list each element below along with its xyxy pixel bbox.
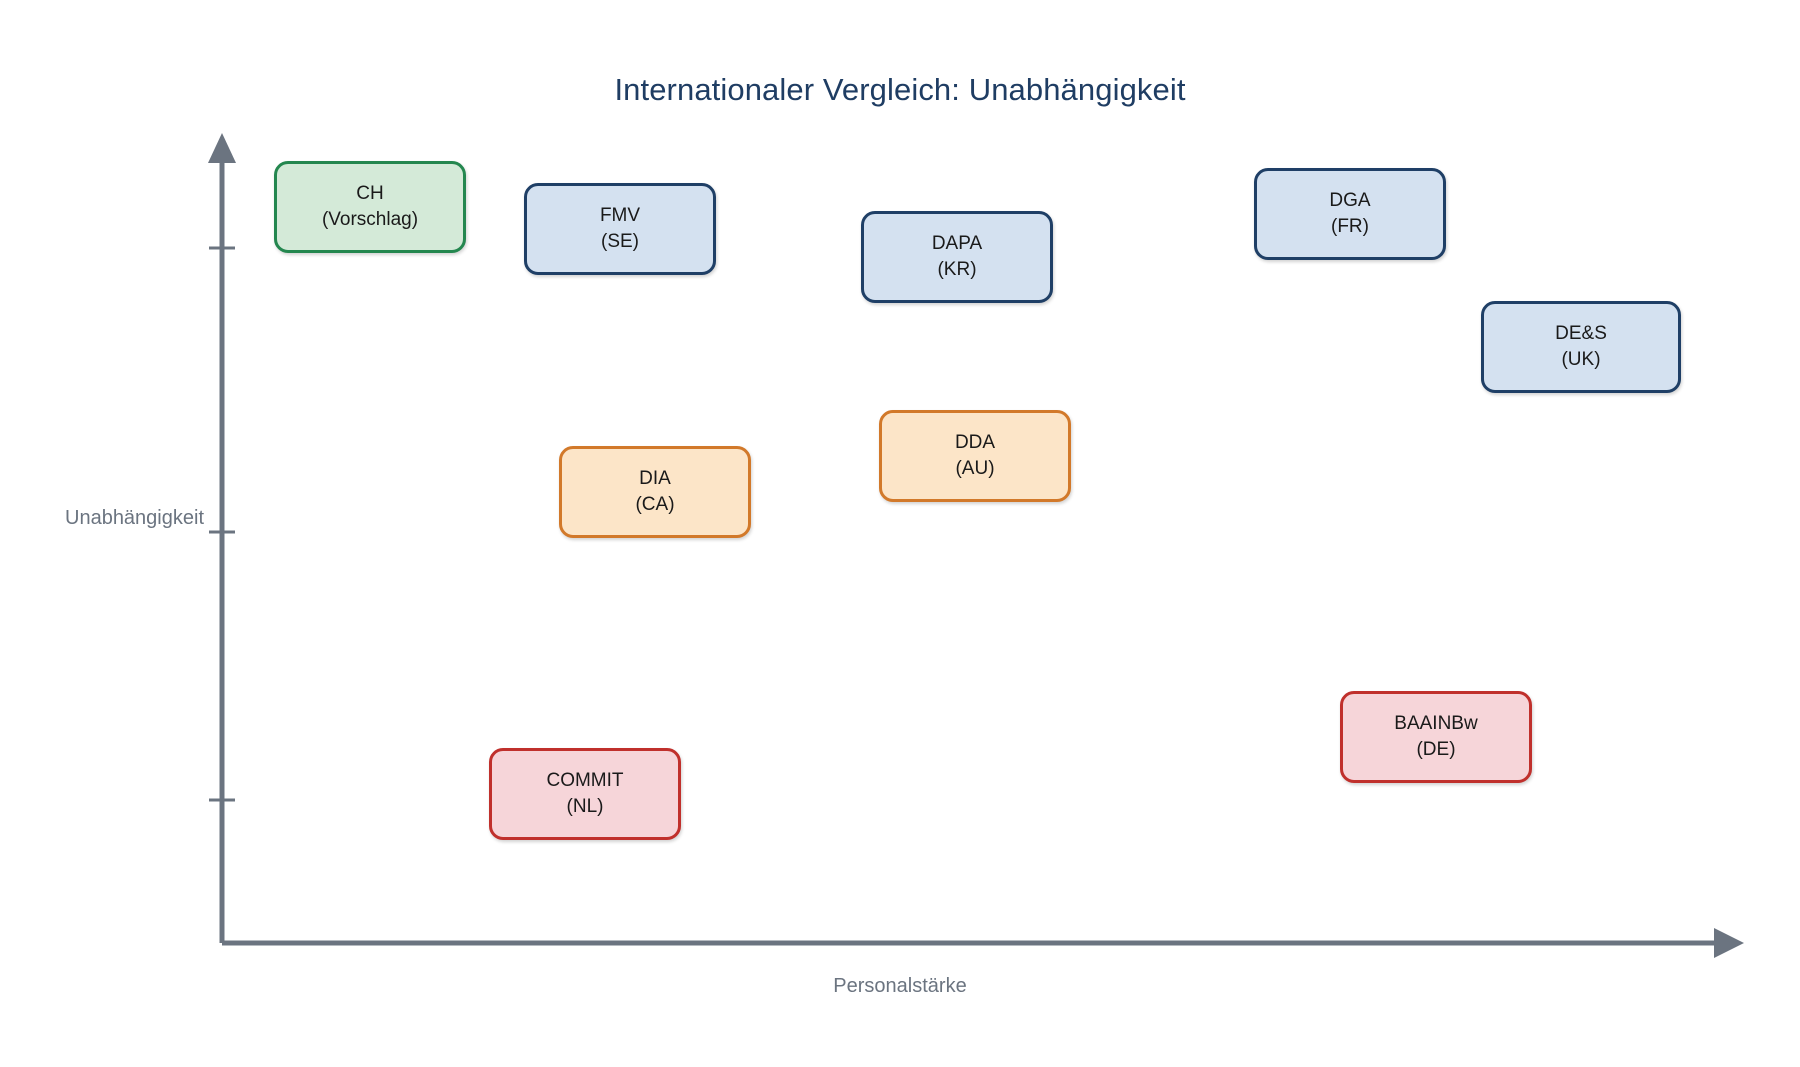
node-commit[interactable]: COMMIT(NL) — [489, 748, 681, 840]
node-label-secondary: (Vorschlag) — [322, 207, 418, 233]
node-dia[interactable]: DIA(CA) — [559, 446, 751, 538]
node-label-primary: FMV — [600, 203, 640, 229]
node-label-secondary: (NL) — [567, 794, 604, 820]
node-baainbw[interactable]: BAAINBw(DE) — [1340, 691, 1532, 783]
x-axis-arrow-icon — [1714, 928, 1744, 958]
node-label-secondary: (DE) — [1416, 737, 1455, 763]
node-label-secondary: (KR) — [937, 257, 976, 283]
chart-title: Internationaler Vergleich: Unabhängigkei… — [0, 72, 1800, 108]
node-label-secondary: (CA) — [635, 492, 674, 518]
node-des[interactable]: DE&S(UK) — [1481, 301, 1681, 393]
axes-group — [0, 0, 1800, 1067]
node-label-primary: DGA — [1329, 188, 1370, 214]
node-dga[interactable]: DGA(FR) — [1254, 168, 1446, 260]
node-label-secondary: (AU) — [955, 456, 994, 482]
diagram-canvas: Internationaler Vergleich: Unabhängigkei… — [0, 0, 1800, 1067]
node-label-primary: COMMIT — [546, 768, 623, 794]
node-label-primary: DIA — [639, 466, 671, 492]
x-axis-label: Personalstärke — [0, 975, 1800, 998]
node-label-secondary: (SE) — [601, 229, 639, 255]
node-fmv[interactable]: FMV(SE) — [524, 183, 716, 275]
node-label-secondary: (UK) — [1561, 347, 1600, 373]
node-label-primary: DAPA — [932, 231, 982, 257]
node-label-primary: DE&S — [1555, 321, 1607, 347]
y-axis-label: Unabhängigkeit — [65, 507, 204, 530]
node-dda[interactable]: DDA(AU) — [879, 410, 1071, 502]
node-label-primary: DDA — [955, 430, 995, 456]
node-label-primary: CH — [356, 181, 383, 207]
node-label-secondary: (FR) — [1331, 214, 1369, 240]
node-label-primary: BAAINBw — [1394, 711, 1477, 737]
y-axis-arrow-icon — [208, 133, 236, 163]
node-ch[interactable]: CH(Vorschlag) — [274, 161, 466, 253]
node-dapa[interactable]: DAPA(KR) — [861, 211, 1053, 303]
